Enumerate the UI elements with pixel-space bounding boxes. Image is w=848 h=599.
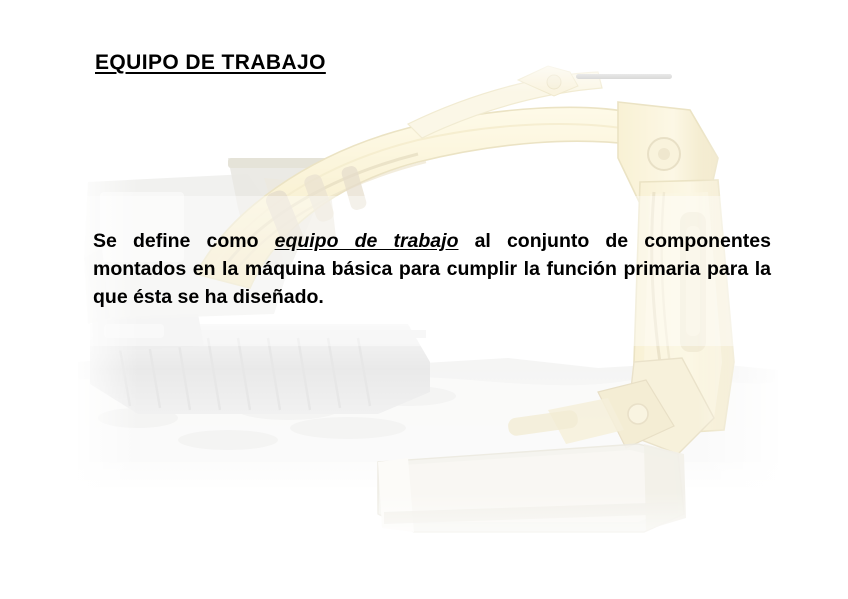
body-paragraph: Se define como equipo de trabajo al conj… <box>93 227 771 311</box>
page-title: EQUIPO DE TRABAJO <box>95 51 326 75</box>
slide-content: EQUIPO DE TRABAJO Se define como equipo … <box>0 0 848 599</box>
paragraph-part-1: Se define como <box>93 230 275 252</box>
slide-canvas: EQUIPO DE TRABAJO Se define como equipo … <box>0 0 848 599</box>
paragraph-emphasis-term: equipo de trabajo <box>275 230 459 252</box>
